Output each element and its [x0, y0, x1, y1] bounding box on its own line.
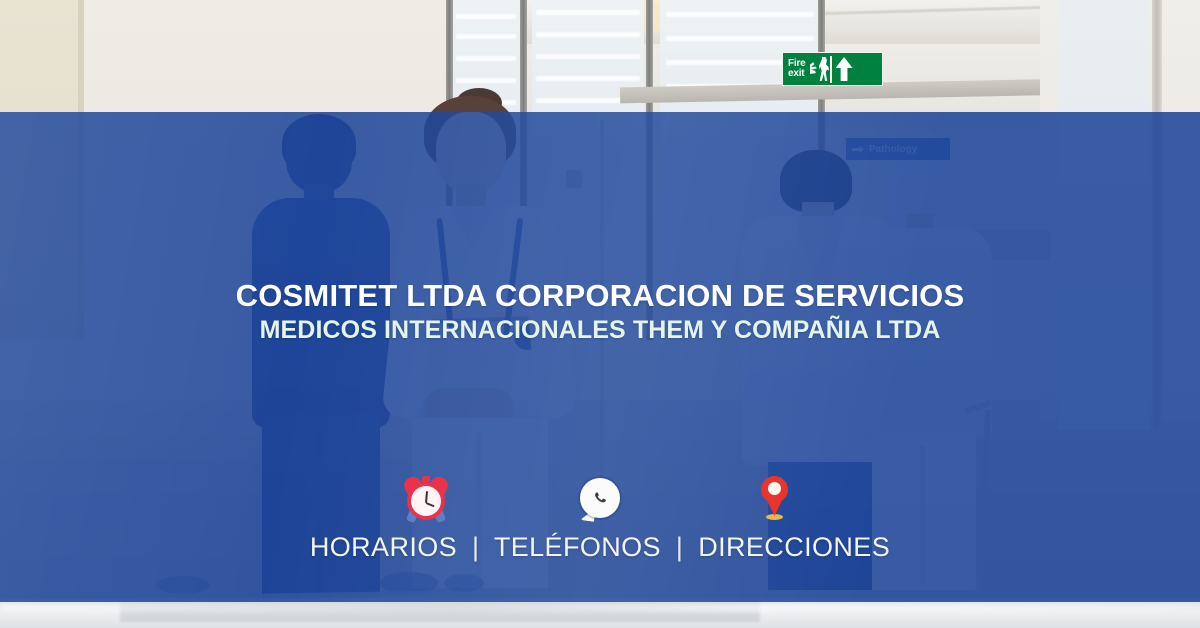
floor-sheen — [0, 604, 1200, 612]
link-horarios[interactable]: HORARIOS — [310, 532, 457, 562]
alarm-clock-icon[interactable] — [403, 474, 449, 524]
banner-image: Fire exit Pathology — [0, 0, 1200, 628]
title-line-1: COSMITET LTDA CORPORACION DE SERVICIOS — [0, 277, 1200, 315]
link-direcciones[interactable]: DIRECCIONES — [698, 532, 890, 562]
link-telefonos[interactable]: TELÉFONOS — [494, 532, 661, 562]
quick-links: HORARIOS | TELÉFONOS | DIRECCIONES — [0, 470, 1200, 563]
up-arrow-icon — [836, 56, 853, 82]
title-line-2: MEDICOS INTERNACIONALES THEM Y COMPAÑIA … — [0, 315, 1200, 345]
running-man-icon — [810, 56, 832, 82]
banner-content: COSMITET LTDA CORPORACION DE SERVICIOS M… — [0, 112, 1200, 602]
fire-exit-line2: exit — [788, 69, 806, 79]
link-separator-1: | — [465, 532, 486, 562]
quick-links-text: HORARIOS | TELÉFONOS | DIRECCIONES — [0, 532, 1200, 563]
fire-exit-sign: Fire exit — [782, 52, 883, 86]
quick-links-icon-row — [0, 470, 1200, 524]
phone-bubble-icon[interactable] — [577, 474, 623, 524]
map-pin-icon[interactable] — [751, 474, 797, 524]
page-title: COSMITET LTDA CORPORACION DE SERVICIOS M… — [0, 277, 1200, 345]
link-separator-2: | — [669, 532, 690, 562]
